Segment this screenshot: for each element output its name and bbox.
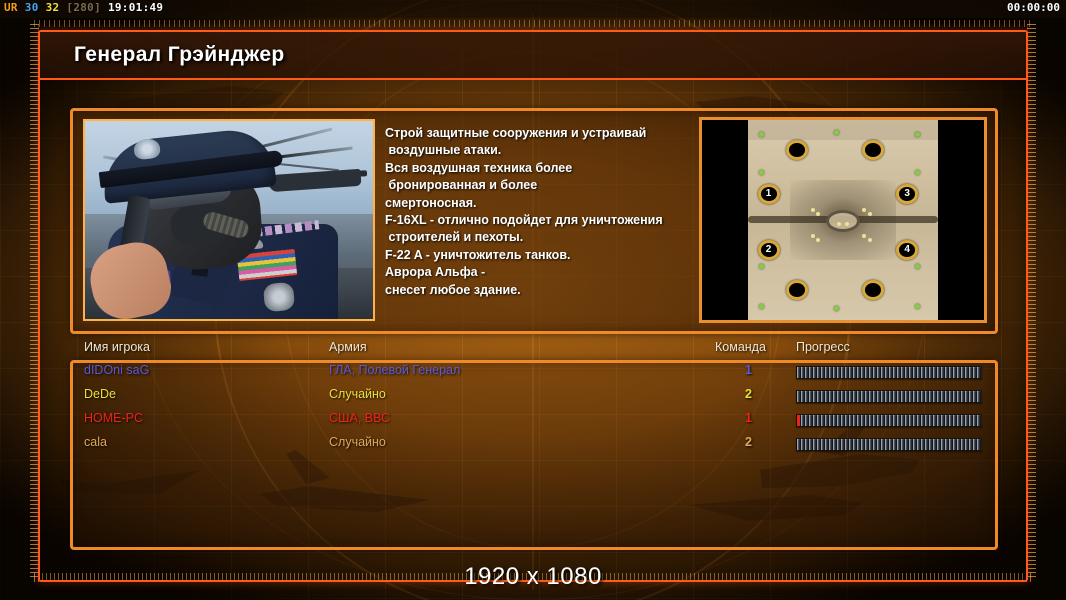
player-army: США, ВВС — [329, 411, 390, 425]
stat-fps: 30 — [25, 1, 39, 14]
briefing-panel: Строй защитные сооружения и устраивай во… — [70, 108, 998, 334]
column-header-army: Армия — [329, 340, 367, 354]
map-slot-unnumbered — [786, 280, 808, 300]
map-resource-pip — [868, 212, 872, 216]
map-slot-unnumbered — [862, 280, 884, 300]
general-portrait-frame — [83, 119, 375, 321]
top-status-bar: UR 30 32 [280] 19:01:49 00:00:00 — [0, 0, 1066, 18]
map-supply-dot — [915, 304, 920, 309]
table-row[interactable]: calaСлучайно2 — [70, 435, 998, 459]
ruler-top — [34, 20, 1032, 27]
player-name: HOME-PC — [84, 411, 143, 425]
map-supply-dot — [915, 264, 920, 269]
player-progress-bar — [796, 390, 982, 403]
player-progress-bar — [796, 366, 982, 379]
player-army: Случайно — [329, 387, 386, 401]
table-row[interactable]: dIDOni saGГЛА, Полевой Генерал1 — [70, 363, 998, 387]
map-preview-frame: 1 2 3 4 — [699, 117, 987, 323]
map-supply-dot — [834, 130, 839, 135]
stat-label: UR — [4, 1, 18, 14]
resolution-label: 1920 x 1080 — [0, 563, 1066, 591]
player-team: 1 — [745, 411, 752, 425]
map-start-position-1: 1 — [758, 184, 780, 204]
player-list-header: Имя игрока Армия Команда Прогресс — [70, 340, 998, 360]
performance-stats: UR 30 32 [280] 19:01:49 — [4, 1, 163, 14]
map-resource-pip — [862, 234, 866, 238]
map-supply-dot — [759, 170, 764, 175]
map-resource-pip — [868, 238, 872, 242]
page-title: Генерал Грэйнджер — [74, 43, 285, 67]
player-army: ГЛА, Полевой Генерал — [329, 363, 460, 377]
map-slot-unnumbered — [862, 140, 884, 160]
map-resource-pip — [811, 208, 815, 212]
map-supply-dot — [915, 170, 920, 175]
player-army: Случайно — [329, 435, 386, 449]
map-preview-image: 1 2 3 4 — [748, 120, 938, 320]
player-progress-bar — [796, 414, 982, 427]
officer-lower-badge — [262, 282, 294, 313]
column-header-team: Команда — [715, 340, 766, 354]
stat-memory: [280] — [66, 1, 101, 14]
table-row[interactable]: DeDeСлучайно2 — [70, 387, 998, 411]
general-portrait-image — [85, 121, 373, 319]
map-start-position-2: 2 — [758, 240, 780, 260]
title-bar: Генерал Грэйнджер — [40, 32, 1026, 80]
player-name: cala — [84, 435, 107, 449]
stat-clock: 19:01:49 — [108, 1, 163, 14]
column-header-progress: Прогресс — [796, 340, 850, 354]
player-team: 2 — [745, 387, 752, 401]
map-resource-pip — [862, 208, 866, 212]
column-header-name: Имя игрока — [84, 340, 150, 354]
map-supply-dot — [834, 306, 839, 311]
match-timer: 00:00:00 — [1007, 1, 1060, 14]
map-supply-dot — [759, 304, 764, 309]
map-resource-pip — [811, 234, 815, 238]
table-row[interactable]: HOME-PCСША, ВВС1 — [70, 411, 998, 435]
player-rows: dIDOni saGГЛА, Полевой Генерал1DeDeСлуча… — [70, 363, 998, 459]
general-description: Строй защитные сооружения и устраивай во… — [385, 125, 687, 299]
player-name: dIDOni saG — [84, 363, 149, 377]
map-start-position-3: 3 — [896, 184, 918, 204]
map-band-top — [748, 120, 938, 140]
player-name: DeDe — [84, 387, 116, 401]
loading-screen: UR 30 32 [280] 19:01:49 00:00:00 Генерал… — [0, 0, 1066, 600]
map-central-feature — [826, 210, 860, 232]
map-supply-dot — [759, 264, 764, 269]
ruler-right — [1027, 24, 1036, 580]
player-team: 2 — [745, 435, 752, 449]
stat-fps-target: 32 — [46, 1, 60, 14]
map-resource-pip — [845, 222, 849, 226]
map-start-position-4: 4 — [896, 240, 918, 260]
player-progress-bar — [796, 438, 982, 451]
player-team: 1 — [745, 363, 752, 377]
map-slot-unnumbered — [786, 140, 808, 160]
